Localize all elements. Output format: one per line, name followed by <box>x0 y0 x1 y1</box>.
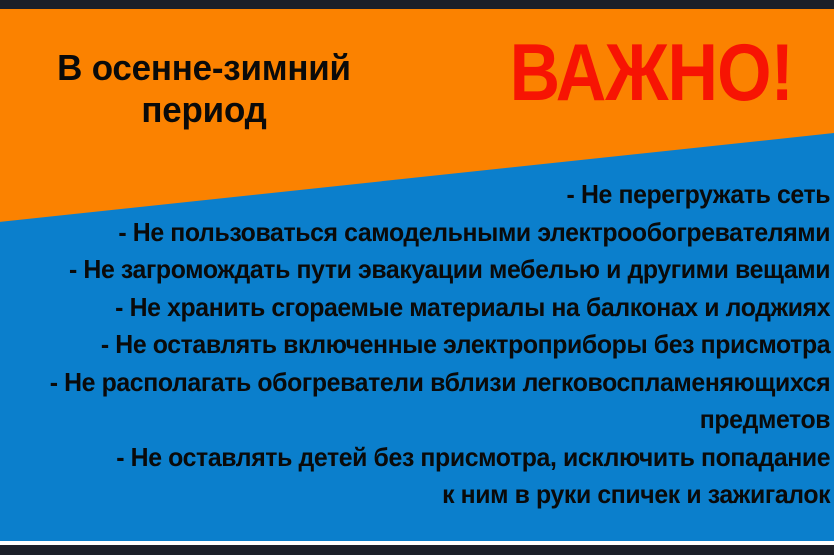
rule-line: - Не хранить сгораемые материалы на балк… <box>38 289 834 327</box>
rule-line: - Не загромождать пути эвакуации мебелью… <box>38 251 834 289</box>
rule-line: - Не оставлять включенные электроприборы… <box>38 326 834 364</box>
important-title: ВАЖНО! <box>510 33 777 114</box>
rule-line: к ним в руки спичек и зажигалок <box>38 476 834 514</box>
rule-line: - Не располагать обогреватели вблизи лег… <box>38 364 834 402</box>
season-title: В осенне-зимний период <box>10 47 398 131</box>
safety-rules-list: - Не перегружать сеть - Не пользоваться … <box>0 176 834 514</box>
rule-line: - Не оставлять детей без присмотра, искл… <box>38 439 834 477</box>
rule-line: предметов <box>38 401 834 439</box>
rule-line: - Не перегружать сеть <box>38 176 834 214</box>
poster-header: В осенне-зимний период ВАЖНО! <box>0 9 834 134</box>
top-dark-bar <box>0 0 834 9</box>
fire-safety-poster: В осенне-зимний период ВАЖНО! - Не перег… <box>0 0 834 555</box>
bottom-dark-bar <box>0 545 834 555</box>
rule-line: - Не пользоваться самодельными электрооб… <box>38 214 834 252</box>
